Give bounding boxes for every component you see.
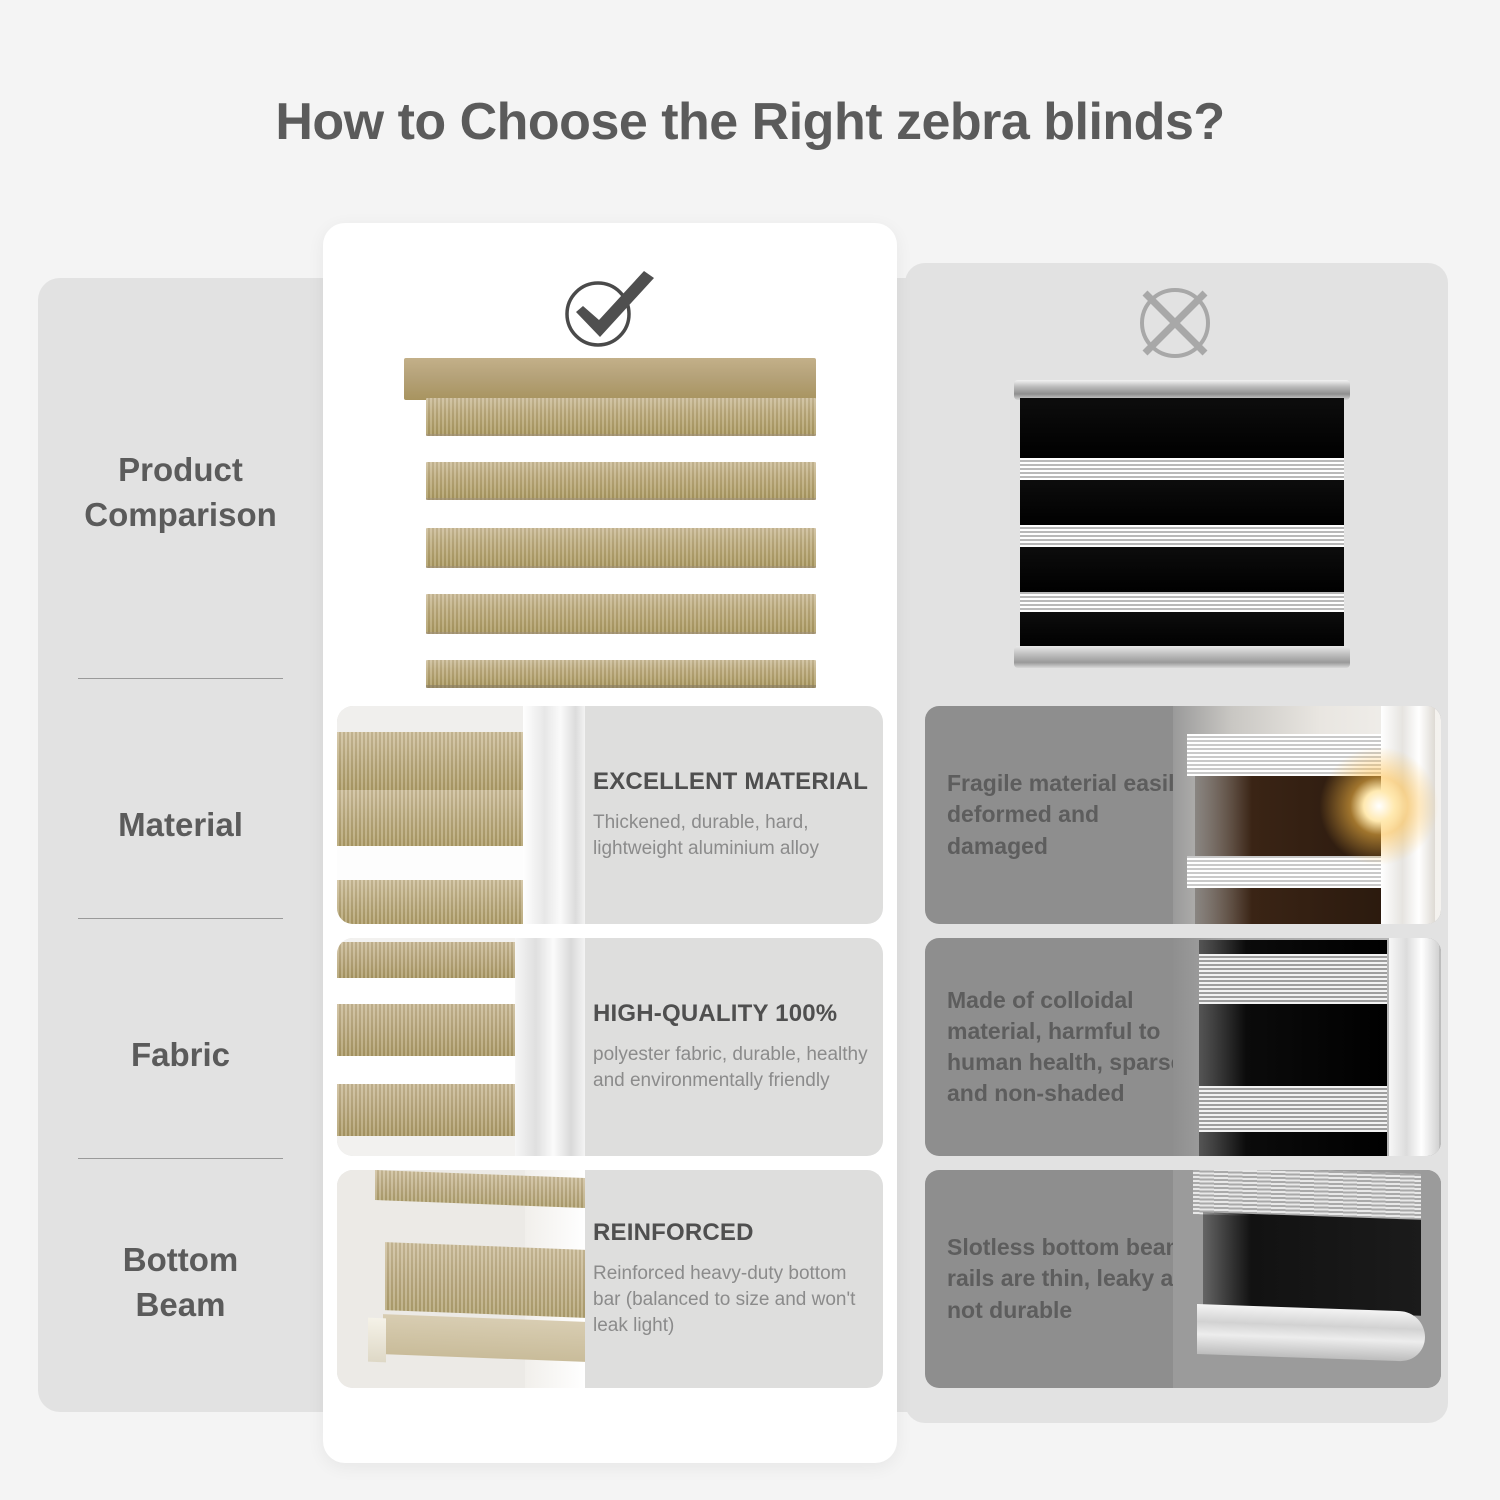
check-circle-icon (550, 262, 670, 352)
bad-feature-fabric-photo (1173, 938, 1441, 1156)
feature-body: Thickened, durable, hard, lightweight al… (593, 810, 869, 862)
good-feature-fabric-text: HIGH-QUALITY 100% polyester fabric, dura… (593, 938, 883, 1156)
blind-band-sheer (1199, 1086, 1387, 1132)
good-feature-material-text: EXCELLENT MATERIAL Thickened, durable, h… (593, 706, 883, 924)
blind-slat (337, 1084, 517, 1136)
blind-band-dark (1020, 612, 1344, 648)
blind-band-dark (1020, 398, 1344, 458)
good-feature-fabric-photo (337, 938, 585, 1156)
row-divider-1 (78, 678, 283, 679)
feature-body: polyester fabric, durable, healthy and e… (593, 1042, 869, 1094)
blind-headrail (1014, 380, 1350, 400)
feature-title: HIGH-QUALITY 100% (593, 1000, 869, 1028)
blind-slat (337, 942, 517, 978)
bad-feature-fabric-text: Made of colloidal material, harmful to h… (947, 938, 1205, 1156)
row-divider-3 (78, 1158, 283, 1159)
good-feature-bottom-beam: REINFORCED Reinforced heavy-duty bottom … (337, 1170, 883, 1388)
page-title: How to Choose the Right zebra blinds? (0, 92, 1500, 152)
cross-circle-icon (1115, 278, 1235, 368)
row-label-fabric: Fabric (38, 1033, 323, 1078)
blind-bottom-rail (1014, 646, 1350, 668)
sun-flare-icon (1319, 746, 1439, 866)
blind-headrail (404, 358, 816, 400)
infographic-page: How to Choose the Right zebra blinds? Pr… (0, 0, 1500, 1500)
row-label-column: Product Comparison Material Fabric Botto… (38, 278, 323, 1412)
feature-title: REINFORCED (593, 1219, 869, 1247)
good-feature-material-photo (337, 706, 585, 924)
row-label-line-1: Bottom (38, 1238, 323, 1283)
row-label-line-2: Beam (38, 1283, 323, 1328)
blind-slat (337, 790, 527, 846)
row-divider-2 (78, 918, 283, 919)
row-label-line-2: Comparison (38, 493, 323, 538)
feature-title: EXCELLENT MATERIAL (593, 768, 869, 796)
blind-slat (426, 594, 816, 634)
blind-band-dark (1199, 940, 1387, 954)
thin-bottom-rail (1197, 1304, 1425, 1362)
blind-band-sheer (1020, 525, 1344, 547)
blind-sheer-gap (337, 978, 517, 1004)
window-frame (523, 706, 585, 924)
blind-band-dark (1020, 480, 1344, 525)
blind-band-dark (1203, 1212, 1421, 1316)
row-label-line-1: Product (38, 448, 323, 493)
blind-sheer-gap (337, 846, 527, 880)
window-frame (515, 938, 585, 1156)
good-hero-image-beige-zebra-blind (404, 358, 816, 698)
bad-feature-material-photo (1173, 706, 1441, 924)
blind-slat (426, 528, 816, 568)
blind-band-dark (1195, 888, 1385, 924)
bad-feature-bottom-beam-photo (1173, 1170, 1441, 1388)
blind-sheer-gap (337, 1056, 517, 1084)
good-feature-material: EXCELLENT MATERIAL Thickened, durable, h… (337, 706, 883, 924)
blind-band-dark (1199, 1132, 1387, 1156)
blind-band-dark (1020, 547, 1344, 592)
bad-feature-material-text: Fragile material easily deformed and dam… (947, 706, 1205, 924)
feature-body: Reinforced heavy-duty bottom bar (balanc… (593, 1261, 869, 1340)
good-feature-bottom-beam-photo (337, 1170, 585, 1388)
blind-band-dark (1199, 1004, 1387, 1086)
good-feature-bottom-beam-text: REINFORCED Reinforced heavy-duty bottom … (593, 1170, 883, 1388)
good-feature-fabric: HIGH-QUALITY 100% polyester fabric, dura… (337, 938, 883, 1156)
row-label-product-comparison: Product Comparison (38, 448, 323, 538)
blind-band-sheer (1199, 954, 1387, 1004)
row-label-material: Material (38, 803, 323, 848)
row-label-bottom-beam: Bottom Beam (38, 1238, 323, 1328)
bottom-bar-end-cap (368, 1318, 386, 1363)
blind-slat (337, 1004, 517, 1056)
bad-feature-material: Fragile material easily deformed and dam… (925, 706, 1441, 924)
bad-feature-bottom-beam: Slotless bottom beam rails are thin, lea… (925, 1170, 1441, 1388)
blind-slat (337, 880, 527, 924)
bad-feature-bottom-beam-text: Slotless bottom beam rails are thin, lea… (947, 1170, 1205, 1388)
window-frame (1389, 938, 1439, 1156)
blind-slat (337, 732, 527, 790)
blind-slat (385, 1242, 585, 1318)
blind-slat (426, 462, 816, 500)
blind-band-sheer (1020, 592, 1344, 612)
bad-hero-image-black-zebra-blind (1014, 380, 1350, 668)
bad-feature-fabric: Made of colloidal material, harmful to h… (925, 938, 1441, 1156)
blind-bottom-bar (426, 660, 816, 688)
blind-band-sheer (1020, 458, 1344, 480)
blind-bottom-bar (383, 1314, 585, 1362)
blind-slat (426, 398, 816, 436)
